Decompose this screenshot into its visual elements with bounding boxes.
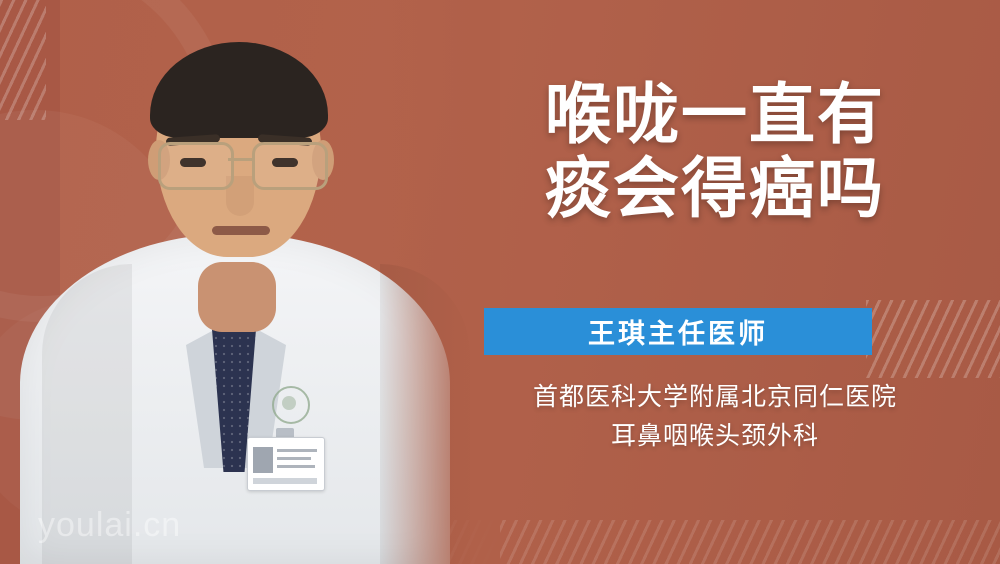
decorative-hatch-bottom — [430, 520, 1000, 564]
headline: 喉咙一直有 痰会得癌吗 — [450, 78, 980, 226]
hospital-emblem-icon — [272, 386, 310, 424]
affiliation: 首都医科大学附属北京同仁医院 耳鼻咽喉头颈外科 — [450, 378, 980, 456]
doctor-name: 王琪 — [588, 312, 648, 351]
site-watermark: youlai.cn — [38, 506, 181, 545]
eyeglasses — [148, 142, 334, 186]
doctor-portrait — [0, 0, 470, 564]
neck — [198, 262, 276, 332]
decorative-hatch-right — [866, 300, 1000, 378]
badge-photo — [253, 447, 273, 473]
mouth — [212, 226, 270, 235]
glasses-bridge — [228, 158, 252, 161]
id-badge — [247, 437, 325, 491]
badge-footer-band — [253, 478, 317, 484]
headline-line-2: 痰会得癌吗 — [450, 152, 980, 226]
doctor-title: 主任医师 — [648, 312, 768, 351]
lens-left — [158, 142, 234, 190]
affiliation-line-2: 耳鼻咽喉头颈外科 — [450, 417, 980, 456]
hair — [150, 42, 328, 138]
doctor-name-bar: 王琪 主任医师 — [484, 308, 872, 355]
badge-text-line — [277, 465, 315, 468]
video-thumbnail: 喉咙一直有 痰会得癌吗 王琪 主任医师 首都医科大学附属北京同仁医院 耳鼻咽喉头… — [0, 0, 1000, 564]
affiliation-line-1: 首都医科大学附属北京同仁医院 — [450, 378, 980, 417]
badge-text-line — [277, 449, 317, 452]
badge-text-line — [277, 457, 311, 460]
lens-right — [252, 142, 328, 190]
headline-line-1: 喉咙一直有 — [545, 76, 885, 153]
